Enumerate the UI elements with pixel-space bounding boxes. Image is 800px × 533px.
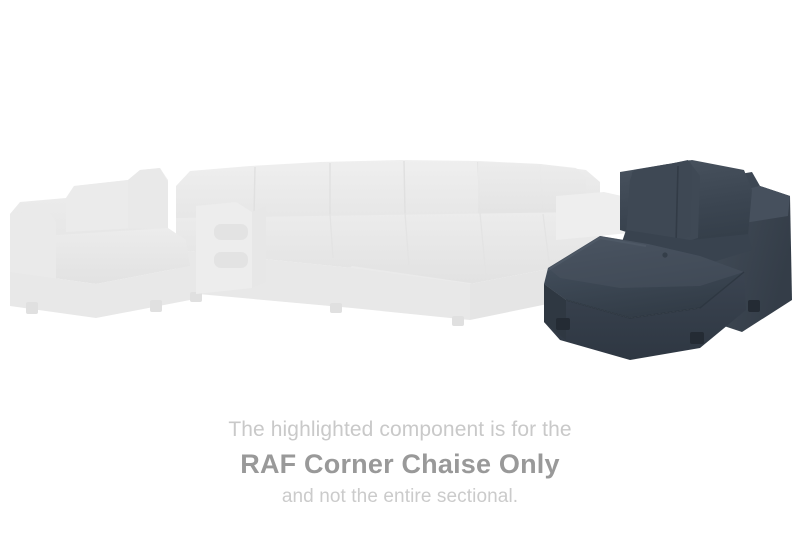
product-image-card: The highlighted component is for the RAF… [0, 0, 800, 533]
caption-block: The highlighted component is for the RAF… [0, 415, 800, 511]
caption-line-1: The highlighted component is for the [0, 415, 800, 445]
sectional-product-illustration [0, 0, 800, 400]
caption-line-2-component-name: RAF Corner Chaise Only [0, 445, 800, 483]
caption-line-3: and not the entire sectional. [0, 483, 800, 511]
